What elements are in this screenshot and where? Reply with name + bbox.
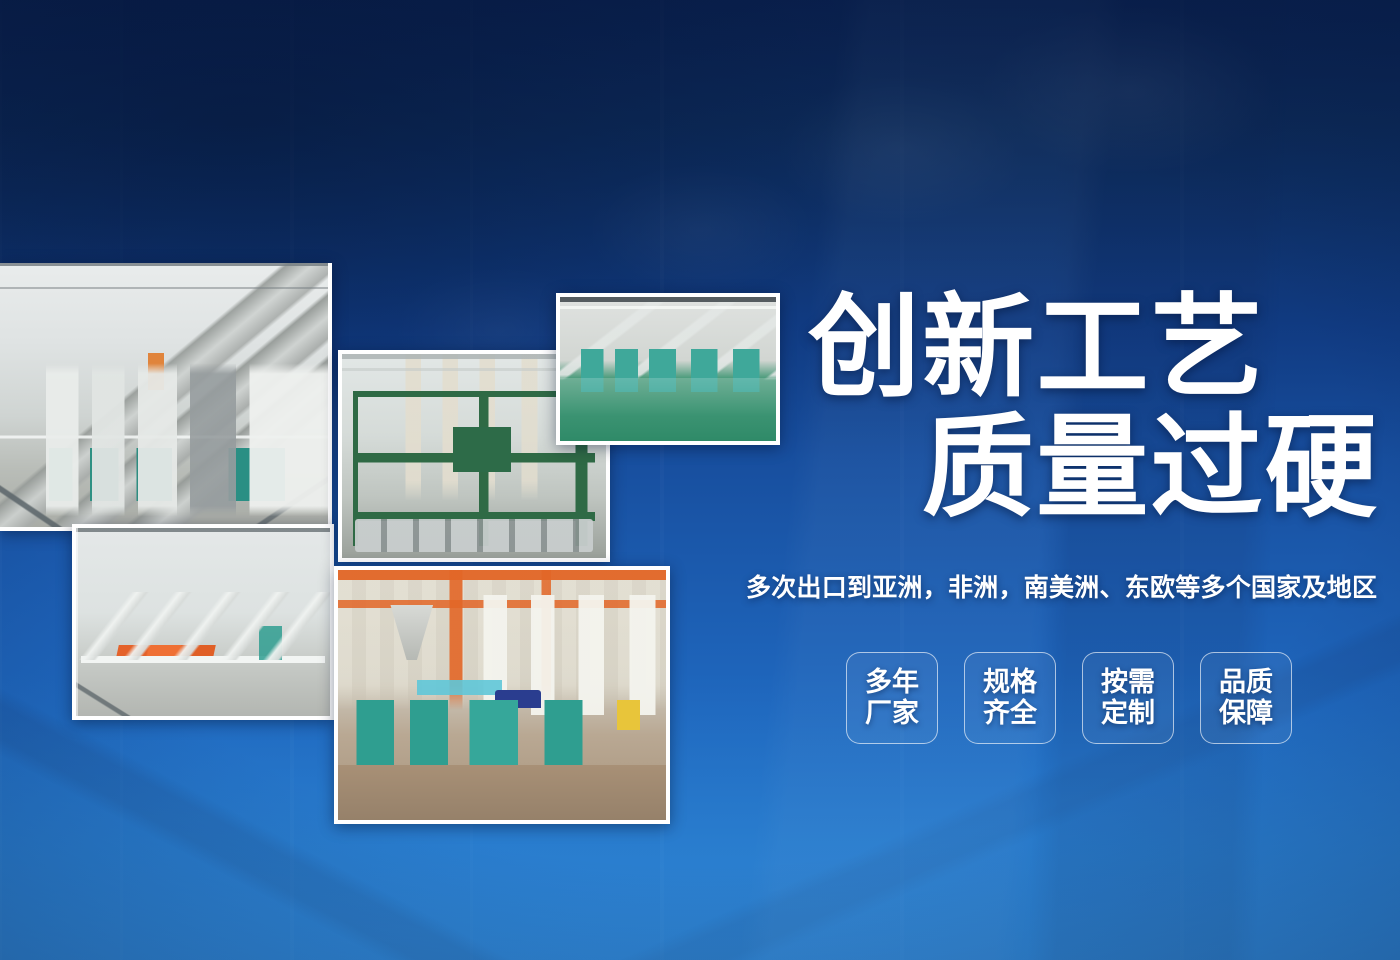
feature-badge-experience-top: 多年 [865,667,919,698]
subtitle: 多次出口到亚洲，非洲，南美洲、东欧等多个国家及地区 [746,568,1377,604]
feature-badge-list: 多年 厂家 规格 齐全 按需 定制 品质 保障 [846,652,1292,744]
photo-white-milling-line-image [76,528,330,716]
photo-green-floor-workshop [556,293,780,445]
feature-badge-customization[interactable]: 按需 定制 [1082,652,1174,744]
feature-badge-experience[interactable]: 多年 厂家 [846,652,938,744]
feature-badge-specifications-top: 规格 [983,667,1037,698]
feature-badge-quality-top: 品质 [1219,667,1273,698]
feature-badge-customization-top: 按需 [1101,667,1155,698]
photo-green-floor-workshop-image [560,297,776,441]
feature-badge-customization-bottom: 定制 [1101,698,1155,729]
photo-rice-mill-line-image [0,263,328,527]
feature-badge-experience-bottom: 厂家 [865,698,919,729]
feature-badge-quality-bottom: 保障 [1219,698,1273,729]
headline-line-2: 质量过硬 [922,412,1379,524]
photo-teal-mill-plant [334,566,670,824]
headline-line-1: 创新工艺 [808,292,1265,404]
feature-badge-specifications-bottom: 齐全 [983,698,1037,729]
feature-badge-specifications[interactable]: 规格 齐全 [964,652,1056,744]
feature-badge-quality[interactable]: 品质 保障 [1200,652,1292,744]
photo-rice-mill-line [0,263,332,531]
promo-banner: 创新工艺 质量过硬 多次出口到亚洲，非洲，南美洲、东欧等多个国家及地区 多年 厂… [0,0,1400,960]
photo-teal-mill-plant-image [338,570,666,820]
photo-white-milling-line [72,524,334,720]
